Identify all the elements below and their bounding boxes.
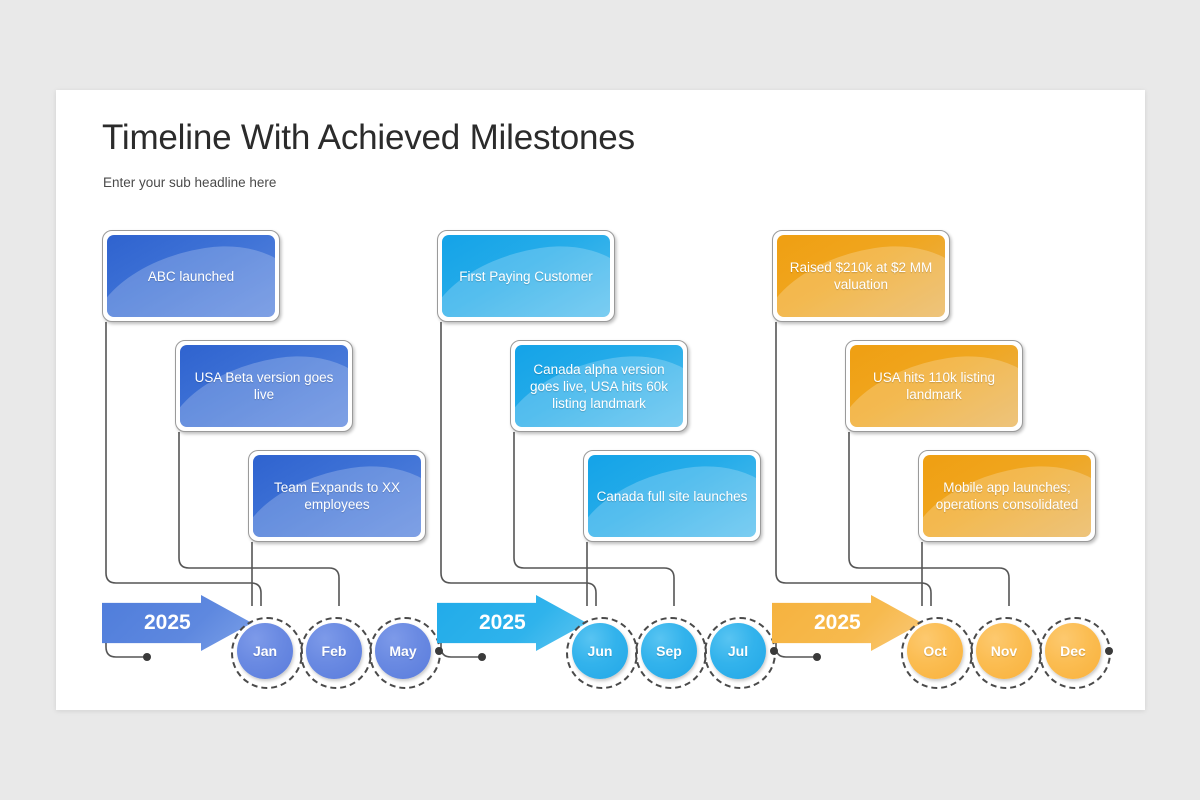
milestone-card[interactable]: Canada alpha version goes live, USA hits… bbox=[510, 340, 688, 432]
milestone-card[interactable]: USA Beta version goes live bbox=[175, 340, 353, 432]
milestone-card[interactable]: Canada full site launches bbox=[583, 450, 761, 542]
month-marker[interactable]: Jul bbox=[710, 623, 766, 679]
year-label: 2025 bbox=[814, 611, 861, 635]
milestone-card-body: First Paying Customer bbox=[442, 235, 610, 317]
month-marker[interactable]: Nov bbox=[976, 623, 1032, 679]
month-label: Sep bbox=[656, 643, 682, 659]
month-label: Dec bbox=[1060, 643, 1086, 659]
month-label: Feb bbox=[322, 643, 347, 659]
slide-canvas: Timeline With Achieved Milestones Enter … bbox=[0, 0, 1200, 800]
milestone-card[interactable]: Mobile app launches; operations consolid… bbox=[918, 450, 1096, 542]
milestone-card-text: Canada alpha version goes live, USA hits… bbox=[515, 361, 683, 412]
timeline-end-dot bbox=[1105, 647, 1113, 655]
month-label: Jun bbox=[588, 643, 613, 659]
milestone-card[interactable]: Team Expands to XX employees bbox=[248, 450, 426, 542]
milestone-card-body: Mobile app launches; operations consolid… bbox=[923, 455, 1091, 537]
month-marker[interactable]: Sep bbox=[641, 623, 697, 679]
milestone-card-body: Canada full site launches bbox=[588, 455, 756, 537]
milestone-card-body: Raised $210k at $2 MM valuation bbox=[777, 235, 945, 317]
month-marker[interactable]: Dec bbox=[1045, 623, 1101, 679]
slide: Timeline With Achieved Milestones Enter … bbox=[56, 90, 1145, 710]
month-label: May bbox=[389, 643, 416, 659]
milestone-card-body: Team Expands to XX employees bbox=[253, 455, 421, 537]
month-marker[interactable]: Jun bbox=[572, 623, 628, 679]
milestone-card-text: Raised $210k at $2 MM valuation bbox=[777, 259, 945, 293]
milestone-card-text: Canada full site launches bbox=[589, 488, 756, 505]
milestone-card-body: ABC launched bbox=[107, 235, 275, 317]
milestone-card-text: Team Expands to XX employees bbox=[253, 479, 421, 513]
timeline-end-dot bbox=[435, 647, 443, 655]
milestone-card[interactable]: Raised $210k at $2 MM valuation bbox=[772, 230, 950, 322]
milestone-card-text: Mobile app launches; operations consolid… bbox=[923, 479, 1091, 513]
month-marker[interactable]: Oct bbox=[907, 623, 963, 679]
milestone-card-text: USA hits 110k listing landmark bbox=[850, 369, 1018, 403]
milestone-card-text: USA Beta version goes live bbox=[180, 369, 348, 403]
milestone-card[interactable]: USA hits 110k listing landmark bbox=[845, 340, 1023, 432]
month-label: Oct bbox=[923, 643, 946, 659]
milestone-card-body: Canada alpha version goes live, USA hits… bbox=[515, 345, 683, 427]
milestone-card[interactable]: First Paying Customer bbox=[437, 230, 615, 322]
year-label: 2025 bbox=[479, 611, 526, 635]
month-label: Jan bbox=[253, 643, 277, 659]
month-marker[interactable]: May bbox=[375, 623, 431, 679]
year-label: 2025 bbox=[144, 611, 191, 635]
month-label: Nov bbox=[991, 643, 1017, 659]
timeline-end-dot bbox=[770, 647, 778, 655]
milestone-card-body: USA hits 110k listing landmark bbox=[850, 345, 1018, 427]
milestone-card-text: First Paying Customer bbox=[451, 268, 601, 285]
milestone-card-text: ABC launched bbox=[140, 268, 242, 285]
month-marker[interactable]: Jan bbox=[237, 623, 293, 679]
milestone-card-body: USA Beta version goes live bbox=[180, 345, 348, 427]
month-label: Jul bbox=[728, 643, 748, 659]
month-marker[interactable]: Feb bbox=[306, 623, 362, 679]
milestone-card[interactable]: ABC launched bbox=[102, 230, 280, 322]
